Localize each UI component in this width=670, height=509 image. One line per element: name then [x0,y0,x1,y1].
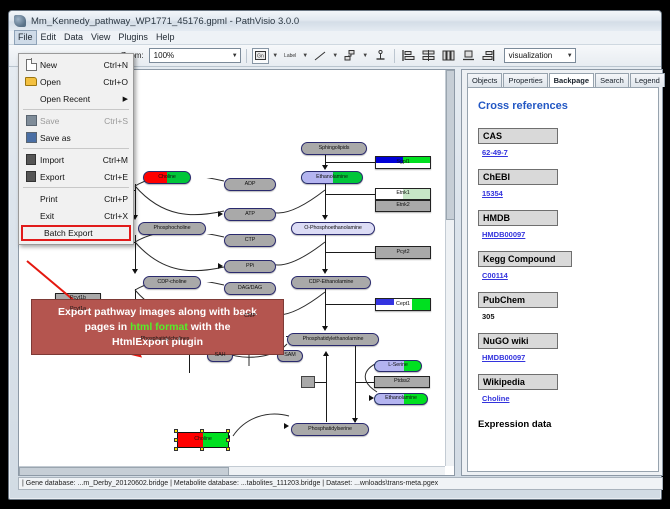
arrow-into-ps [284,423,289,429]
menu-item-batch-export[interactable]: Batch Export [21,225,131,241]
export-icon [22,170,40,183]
menu-separator-3 [23,187,129,188]
selection-handle-e[interactable] [226,438,230,442]
node-ctp[interactable]: CTP [224,234,276,247]
selection-handle-ne[interactable] [226,429,230,433]
tab-properties[interactable]: Properties [503,73,547,87]
save-disk-icon [22,114,40,127]
node-dag[interactable]: DAG/DAG [224,282,276,295]
xref-value-chebi: 15354 [478,185,648,204]
anchor-tool-icon[interactable] [372,48,389,64]
callout-line-2: pages in html format with the [58,320,257,335]
xref-link-kegg-compound[interactable]: C00114 [482,271,508,280]
callout-annotation: Export pathway images along with back pa… [31,299,284,355]
menu-item-save[interactable]: Save Ctrl+S [19,112,133,129]
svg-text:Gn: Gn [257,54,264,60]
align-right-icon[interactable] [480,48,497,64]
menu-view[interactable]: View [87,31,114,44]
menu-item-import[interactable]: Import Ctrl+M [19,151,133,168]
node-ethanolamine-top[interactable]: Ethanolamine [301,171,363,184]
menu-file[interactable]: File [14,30,37,45]
callout-line-1: Export pathway images along with back [58,305,257,320]
arrow-into-ppi [218,263,223,269]
node-ptdss2[interactable]: Ptdss2 [374,376,430,388]
selection-handle-nw[interactable] [174,429,178,433]
zoom-combobox[interactable]: 100% ▼ [149,48,241,63]
menu-item-export[interactable]: Export Ctrl+E [19,168,133,185]
selection-handle-sw[interactable] [174,447,178,451]
xref-value-nugo-wiki: HMDB00097 [478,349,648,368]
menu-item-new[interactable]: New Ctrl+N [19,56,133,73]
canvas-horizontal-scrollbar[interactable] [19,466,445,475]
tab-backpage[interactable]: Backpage [549,73,594,87]
node-ppi[interactable]: PPi [224,260,276,273]
menu-item-open-recent[interactable]: Open Recent ▶ [19,90,133,107]
xref-value-cas: 62-49-7 [478,144,648,163]
xref-value-kegg-compound: C00114 [478,267,648,286]
menu-item-save-as[interactable]: Save as [19,129,133,146]
callout-highlight-html-format: html format [130,321,188,333]
application-window: Mm_Kennedy_pathway_WP1771_45176.gpml - P… [8,10,662,500]
xref-header-hmdb: HMDB [478,210,558,226]
edge-etnk [325,194,377,195]
arrow-into-atp [218,211,223,217]
xref-header-chebi: ChEBI [478,169,558,185]
align-left-icon[interactable] [400,48,417,64]
print-spacer [22,192,40,205]
status-bar: | Gene database: ...m_Derby_20120602.bri… [18,477,663,490]
xref-link-wikipedia[interactable]: Choline [482,394,510,403]
visualization-combobox[interactable]: visualization ▼ [504,48,576,63]
node-phosphocholine[interactable]: Phosphocholine [138,222,206,235]
xref-value-wikipedia: Choline [478,390,648,409]
menu-edit[interactable]: Edit [37,31,61,44]
node-cept1[interactable]: Cept1 [375,298,431,311]
menu-item-open[interactable]: Open Ctrl+O [19,73,133,90]
menu-item-exit[interactable]: Exit Ctrl+X [19,207,133,224]
selection-handle-w[interactable] [174,438,178,442]
edge-pcyt2 [325,252,377,253]
selection-handle-s[interactable] [200,447,204,451]
toolbar-separator-2 [394,49,395,63]
align-stack-icon[interactable] [420,48,437,64]
curve-right-2 [269,236,331,280]
node-phosphatidylethanolamine[interactable]: Phosphatidylethanolamine [287,333,379,346]
edge-cept1 [325,304,377,305]
open-folder-icon [22,75,40,88]
menu-help[interactable]: Help [152,31,179,44]
file-menu-dropdown[interactable]: New Ctrl+N Open Ctrl+O Open Recent ▶ Sav… [18,53,134,245]
edge-anchor [315,382,326,383]
status-bar-text: | Gene database: ...m_Derby_20120602.bri… [22,480,438,487]
toolbar-separator [246,49,247,63]
canvas-hscroll-thumb[interactable] [19,467,229,476]
node-ethanolamine-bottom[interactable]: Ethanolamine [374,393,428,405]
menu-data[interactable]: Data [60,31,87,44]
selection-handle-se[interactable] [226,447,230,451]
arrow-sphingo-ethanolamine [322,165,328,170]
interaction-tool-icon[interactable] [342,48,359,64]
xref-link-nugo-wiki[interactable]: HMDB00097 [482,353,525,362]
backpage-content: Cross references CAS 62-49-7 ChEBI 15354… [467,87,659,472]
node-etnk1[interactable]: Etnk1 [375,188,431,200]
distribute-icon[interactable] [440,48,457,64]
arrow-ps-pe [323,351,329,356]
node-l-serine[interactable]: L-Serine [374,360,422,372]
xref-header-cas: CAS [478,128,558,144]
node-adp[interactable]: ADP [224,178,276,191]
xref-value-pubchem: 305 [478,308,648,327]
menu-separator-1 [23,109,129,110]
tab-legend[interactable]: Legend [630,73,665,87]
menu-bar: File Edit Data View Plugins Help [9,31,661,45]
cross-references-heading: Cross references [478,100,648,112]
node-etnk2[interactable]: Etnk2 [375,200,431,212]
xref-value-hmdb: HMDB00097 [478,226,648,245]
align-bottom-icon[interactable] [460,48,477,64]
node-sphingolipids[interactable]: Sphingolipids [301,142,367,155]
node-choline-top[interactable]: Choline [143,171,191,184]
line-tool-icon[interactable] [312,48,329,64]
edge-pc-lower-v [189,353,190,373]
title-bar: Mm_Kennedy_pathway_WP1771_45176.gpml - P… [9,11,661,31]
callout-line-2-a: pages in [85,321,131,333]
node-sgpl1[interactable]: Sgpl1 [375,156,431,169]
cept1-green-part [412,299,430,310]
label-tool-icon[interactable]: Label [282,48,299,64]
node-pcyt2[interactable]: Pcyt2 [375,246,431,259]
canvas-vertical-scrollbar[interactable] [445,70,454,466]
datanode-dropdown-arrow[interactable]: ▼ [272,53,279,59]
batch-export-spacer [26,227,44,240]
xref-link-cas[interactable]: 62-49-7 [482,148,508,157]
chevron-right-icon: ▶ [123,95,133,103]
xref-link-hmdb[interactable]: HMDB00097 [482,230,525,239]
import-icon [22,153,40,166]
datanode-tool-icon[interactable]: Gn [252,48,269,64]
menu-separator-2 [23,148,129,149]
tab-objects[interactable]: Objects [467,73,502,87]
selection-handle-n[interactable] [200,429,204,433]
node-choline-selected[interactable]: Choline [177,432,229,448]
window-title: Mm_Kennedy_pathway_WP1771_45176.gpml - P… [31,16,299,27]
xref-header-wikipedia: Wikipedia [478,374,558,390]
xref-header-pubchem: PubChem [478,292,558,308]
node-phosphatidylserine[interactable]: Phosphatidylserine [291,423,369,436]
screenshot-root: Mm_Kennedy_pathway_WP1771_45176.gpml - P… [0,0,670,509]
line-dropdown-arrow[interactable]: ▼ [332,53,339,59]
menu-item-print[interactable]: Print Ctrl+P [19,190,133,207]
chevron-down-icon-2: ▼ [567,53,573,59]
pathway-anchor-box [301,376,315,388]
label-dropdown-arrow[interactable]: ▼ [302,53,309,59]
chevron-down-icon: ▼ [232,53,238,59]
tab-search[interactable]: Search [595,73,629,87]
xref-header-nugo-wiki: NuGO wiki [478,333,558,349]
interaction-dropdown-arrow[interactable]: ▼ [362,53,369,59]
visualization-value: visualization [509,51,553,60]
edge-ps-to-pe [326,356,327,422]
xref-header-kegg-compound: Kegg Compound [478,251,572,267]
edge-sgpl1 [325,162,377,163]
curve-adp-atp [123,178,233,223]
zoom-value: 100% [154,51,174,60]
save-as-disk-icon [22,131,40,144]
side-panel: Objects Properties Backpage Search Legen… [461,69,663,476]
new-page-icon [22,58,40,71]
canvas-vscroll-thumb[interactable] [446,70,455,220]
expression-data-heading: Expression data [478,419,648,430]
node-atp[interactable]: ATP [224,208,276,221]
node-cdp-ethanolamine[interactable]: CDP-Ethanolamine [291,276,371,289]
pathvisio-app-icon [14,15,26,27]
cept1-blue-quad [376,299,394,305]
node-o-phosphoethanolamine[interactable]: O-Phosphoethanolamine [291,222,375,235]
callout-line-2-b: with the [188,321,231,333]
menu-plugins[interactable]: Plugins [114,31,152,44]
open-recent-spacer [22,92,40,105]
side-panel-tabs: Objects Properties Backpage Search Legen… [467,73,660,87]
xref-link-chebi[interactable]: 15354 [482,189,503,198]
exit-spacer [22,209,40,222]
